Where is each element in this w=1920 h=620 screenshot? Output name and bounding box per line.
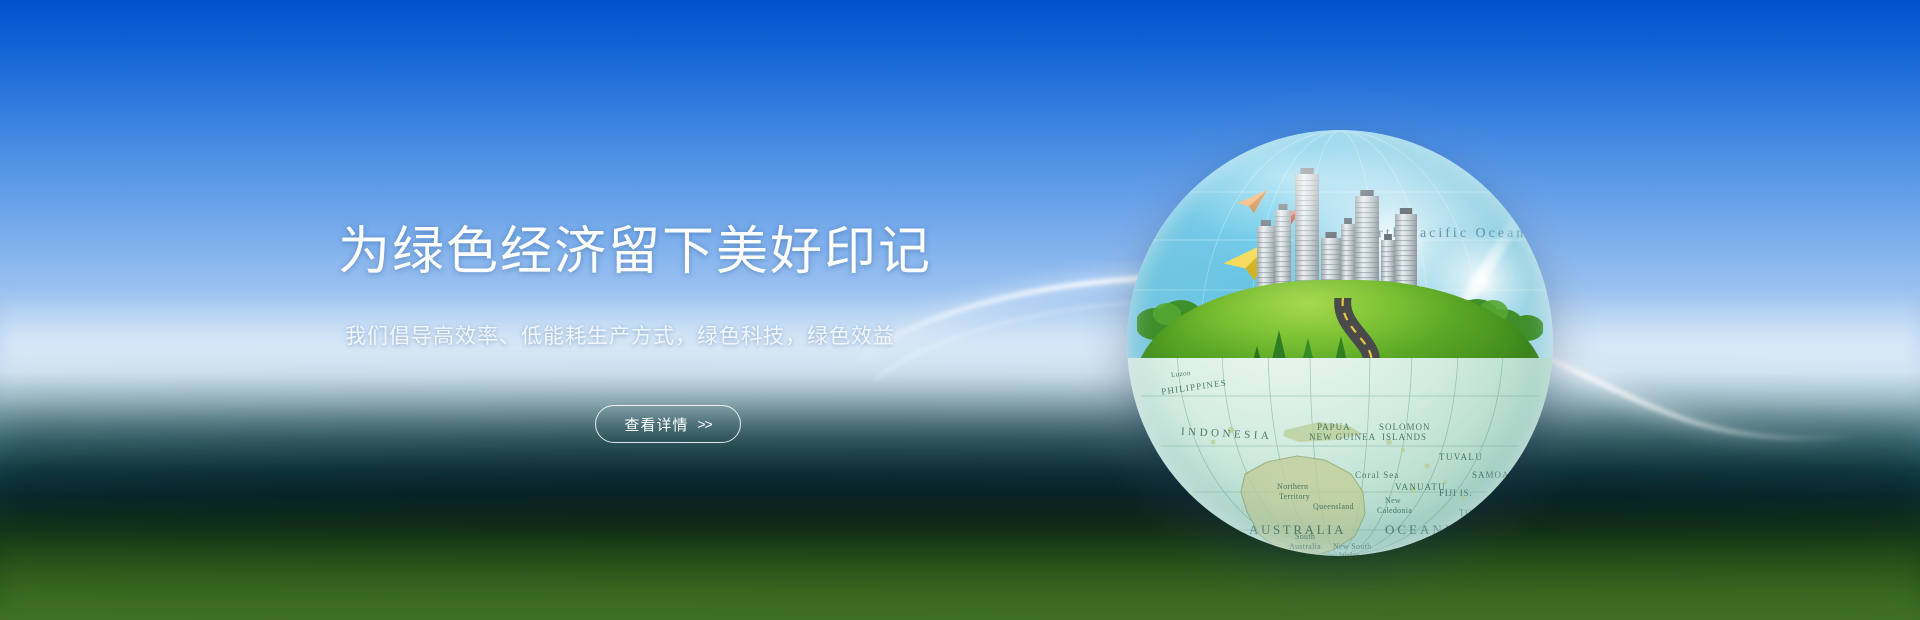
hero-banner: 为绿色经济留下美好印记 我们倡导高效率、低能耗生产方式，绿色科技，绿色效益 查看… (0, 0, 1920, 620)
double-chevron-right-icon: >> (697, 416, 711, 432)
cta-label: 查看详情 (624, 414, 688, 435)
winding-road-icon (1247, 298, 1437, 358)
page-title: 为绿色经济留下美好印记 (338, 226, 932, 278)
globe-sphere: PHILIPPINESLuzonINDONESIAPAPUANEW GUINEA… (1127, 130, 1553, 556)
globe-illustration: PHILIPPINESLuzonINDONESIAPAPUANEW GUINEA… (1127, 130, 1553, 556)
page-subtitle: 我们倡导高效率、低能耗生产方式，绿色科技，绿色效益 (345, 326, 895, 347)
copy-block: 为绿色经济留下美好印记 我们倡导高效率、低能耗生产方式，绿色科技，绿色效益 查看… (0, 0, 1100, 620)
globe-dome: North Pacific Ocean (1127, 130, 1553, 358)
view-details-button[interactable]: 查看详情 >> (595, 405, 741, 443)
